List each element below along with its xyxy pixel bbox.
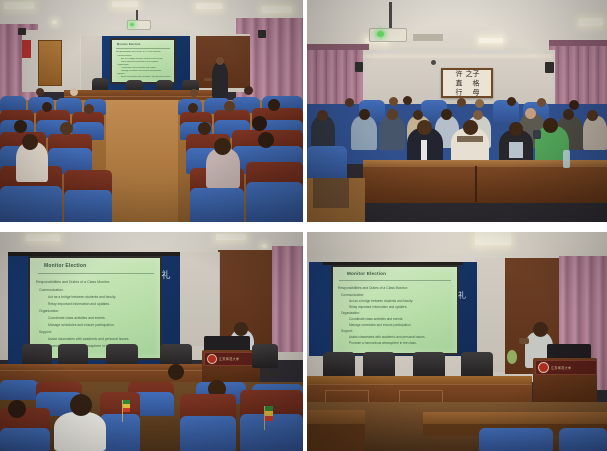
slide-rule xyxy=(38,273,154,274)
slide-bullet: Assist classmates with academic and pers… xyxy=(48,337,129,341)
auditorium-seat xyxy=(190,188,244,222)
slide-title: Monitor Election xyxy=(44,263,86,269)
slide-bullet: Act as a bridge between students and fac… xyxy=(349,299,413,303)
slide-intro: Responsibilities and Duties of a Class M… xyxy=(116,51,161,53)
door[interactable] xyxy=(38,40,62,86)
gutter-horizontal xyxy=(0,222,607,232)
projection-screen: Monitor Election Responsibilities and Du… xyxy=(110,38,176,84)
photo-collage-grid: Monitor Election Responsibilities and Du… xyxy=(0,0,607,451)
slide-intro: Responsibilities and Duties of a Class M… xyxy=(36,280,110,284)
auditorium-seat xyxy=(64,190,112,222)
attendee-head xyxy=(188,103,198,113)
slide-heading: Communication: xyxy=(341,293,364,297)
attendee-head xyxy=(268,99,280,111)
calligraphy-frame: 许 直 行 子 格 母 之 xyxy=(441,68,493,98)
auditorium-seat xyxy=(0,186,62,222)
slide-heading: Support: xyxy=(117,73,125,75)
attendee-head xyxy=(244,86,253,95)
slide-heading: Communication: xyxy=(117,55,132,57)
attendee-garment-stripe xyxy=(457,136,483,142)
speaker-head xyxy=(533,322,548,337)
attendee-head xyxy=(475,99,484,108)
microphone xyxy=(262,372,278,376)
attendee-head xyxy=(417,120,432,135)
auditorium-seat xyxy=(479,428,553,451)
slide-heading: Organization: xyxy=(39,309,59,313)
stage-chair xyxy=(413,352,445,378)
slide-bullet: Assist classmates with academic and pers… xyxy=(121,76,171,78)
wall-speaker xyxy=(545,62,554,73)
curtain-rail xyxy=(549,40,607,46)
attendee-head xyxy=(389,97,398,106)
presenter-body xyxy=(212,62,228,98)
ceiling-camera xyxy=(431,60,436,65)
downlight xyxy=(52,20,57,24)
attendee-head xyxy=(359,109,370,120)
attendee-head xyxy=(403,96,412,105)
ceiling-light xyxy=(4,2,34,9)
ceiling-light xyxy=(26,234,60,241)
photo-panel-top-left[interactable]: Monitor Election Responsibilities and Du… xyxy=(0,0,303,222)
downlight xyxy=(262,244,267,248)
slide-rule xyxy=(339,280,451,281)
curtain-rail xyxy=(307,44,369,50)
presenter-head xyxy=(216,57,224,65)
auditorium-seat xyxy=(246,182,303,222)
water-bottle xyxy=(563,150,570,168)
slide-heading: Organization: xyxy=(341,311,360,315)
ac-vent xyxy=(413,34,443,41)
desk-front xyxy=(363,166,607,203)
attendee-head xyxy=(258,132,274,148)
audience-view: 许 直 行 子 格 母 之 xyxy=(307,0,607,222)
attendee-head xyxy=(543,118,558,133)
ceiling-light xyxy=(216,234,246,240)
projector-mount xyxy=(389,2,392,30)
slide-title: Monitor Election xyxy=(347,271,386,276)
backdrop-character: 礼 xyxy=(455,290,469,312)
slide-heading: Support: xyxy=(341,329,353,333)
slide-bullet: Manage schedules and ensure participatio… xyxy=(121,70,162,72)
phone-icon xyxy=(533,130,541,139)
attendee-head xyxy=(509,122,523,136)
attendee-head xyxy=(60,122,73,135)
slide-rule xyxy=(116,48,170,49)
attendee-shirt xyxy=(509,142,523,158)
slide-bullet: Coordinate class activities and events. xyxy=(48,316,106,320)
slide-bullet: Act as a bridge between students and fac… xyxy=(48,295,116,299)
stage-chair xyxy=(461,352,493,378)
attendee-head xyxy=(214,138,231,155)
ceiling-light xyxy=(262,6,292,13)
auditorium-seat xyxy=(100,414,140,451)
podium-nameplate: 江苏师范大学 xyxy=(535,360,597,375)
calligraphy-column-left: 子 格 母 之 xyxy=(465,70,479,96)
wall-trim xyxy=(363,54,553,58)
slide-intro: Responsibilities and Duties of a Class M… xyxy=(338,286,408,290)
projection-screen: Monitor Election Responsibilities and Du… xyxy=(331,265,459,355)
attendee-head xyxy=(317,110,328,121)
attendee-head xyxy=(36,88,44,96)
slide-heading: Support: xyxy=(39,330,52,334)
attendee-head xyxy=(413,110,423,120)
attendee-head xyxy=(473,110,483,120)
podium-institution-text: 江苏师范大学 xyxy=(219,357,239,361)
slide-bullet: Manage schedules and ensure participatio… xyxy=(349,323,412,327)
flag-stripe-red xyxy=(265,416,273,421)
slide-bullet: Relay important information and updates. xyxy=(48,302,110,306)
attendee-head xyxy=(168,364,184,380)
attendee-body xyxy=(54,412,106,451)
attendee-head xyxy=(441,109,452,120)
attendee-head xyxy=(457,98,466,107)
backdrop-character: 礼 xyxy=(158,268,174,294)
slide-bullet: Coordinate class activities and events. xyxy=(349,317,403,321)
attendee-head xyxy=(70,394,92,416)
lecture-hall-rear-view: Monitor Election Responsibilities and Du… xyxy=(0,0,303,222)
slide-bullet: Relay important information and updates. xyxy=(349,305,407,309)
photo-panel-bottom-left[interactable]: Monitor Election Responsibilities and Du… xyxy=(0,232,303,451)
ceiling-light xyxy=(579,18,603,26)
attendee-body xyxy=(311,116,335,150)
stage-with-podium-view: Monitor Election Responsibilities and Du… xyxy=(0,232,303,451)
flag-stripe-red xyxy=(123,408,130,412)
desk-seam xyxy=(475,166,477,202)
wall-speaker xyxy=(355,62,363,72)
stage-chair xyxy=(252,344,278,368)
attendee-head xyxy=(252,116,267,131)
attendee-body xyxy=(351,116,377,150)
attendee-body xyxy=(583,116,607,150)
attendee-head xyxy=(587,110,598,121)
slide-heading: Organization: xyxy=(117,64,129,66)
university-seal-icon xyxy=(538,362,549,373)
attendee-head xyxy=(198,122,211,135)
attendee-body xyxy=(379,116,405,150)
attendee-head xyxy=(190,89,198,97)
seat-leg xyxy=(313,178,349,208)
projector xyxy=(369,28,407,42)
wall-panel xyxy=(176,252,220,346)
attendee-head xyxy=(525,108,536,119)
attendee-head xyxy=(463,120,478,135)
wall-sign xyxy=(22,40,31,58)
slide-bullet: Coordinate class activities and events. xyxy=(121,67,156,69)
auditorium-seat xyxy=(307,146,347,182)
speaker-head xyxy=(234,322,248,336)
projector-lens-icon xyxy=(130,23,134,26)
ceiling-light xyxy=(479,38,503,43)
plant xyxy=(507,350,517,364)
ceiling-light xyxy=(196,3,222,9)
auditorium-seat xyxy=(559,428,607,451)
attendee-head xyxy=(8,400,26,418)
attendee-head xyxy=(22,134,38,150)
wall-speaker xyxy=(18,28,26,35)
photo-panel-top-right[interactable]: 许 直 行 子 格 母 之 xyxy=(307,0,607,222)
slide-bullet: Manage schedules and ensure participatio… xyxy=(48,323,115,327)
stage-chair xyxy=(363,352,395,378)
attendee-head xyxy=(224,101,235,112)
attendee-head xyxy=(70,88,78,96)
wall-speaker xyxy=(258,30,266,38)
photo-panel-bottom-right[interactable]: Monitor Election Responsibilities and Du… xyxy=(307,232,607,451)
speaker-arm xyxy=(519,338,529,344)
projector-lens-icon xyxy=(377,31,384,37)
slide-bullet: Assist classmates with academic and pers… xyxy=(349,335,426,339)
attendee-head xyxy=(537,98,546,107)
stage-wide-view: Monitor Election Responsibilities and Du… xyxy=(307,232,607,451)
center-aisle xyxy=(106,100,178,222)
slide-bullet: Promote a harmonious atmosphere in the c… xyxy=(349,341,417,345)
slide-bullet: Relay important information and updates. xyxy=(121,61,159,63)
front-desk-front xyxy=(307,424,365,451)
attendee-head xyxy=(507,97,516,106)
calligraphy-column-right: 许 直 行 xyxy=(455,70,462,95)
slide-bullet: Act as a bridge between students and fac… xyxy=(121,58,163,60)
slide-title: Monitor Election xyxy=(117,43,141,46)
attendee-shirt xyxy=(421,140,427,160)
ceiling-light xyxy=(475,232,511,245)
slide-heading: Communication: xyxy=(39,288,64,292)
presenter-arm xyxy=(204,78,212,81)
stage-chair xyxy=(323,352,355,378)
attendee-head xyxy=(345,98,354,107)
auditorium-seat xyxy=(0,380,38,400)
attendee-head xyxy=(42,102,52,112)
attendee-head xyxy=(563,109,574,120)
attendee-head xyxy=(387,109,398,120)
attendee-head xyxy=(84,104,94,114)
podium-institution-text: 江苏师范大学 xyxy=(551,366,571,370)
auditorium-seat xyxy=(180,416,236,451)
auditorium-seat xyxy=(0,428,50,451)
university-seal-icon xyxy=(207,354,217,364)
ceiling-light xyxy=(112,1,138,7)
curtain-right xyxy=(272,246,303,352)
attendee-head xyxy=(14,120,27,133)
